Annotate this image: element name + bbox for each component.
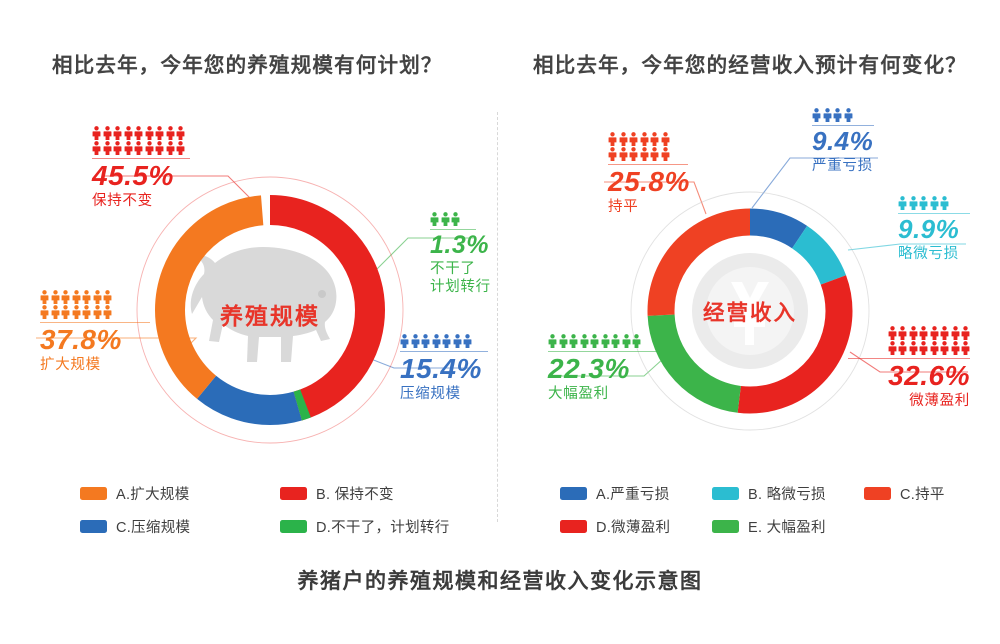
person-icon bbox=[580, 334, 589, 348]
legend-swatch bbox=[80, 520, 107, 533]
legend-item[interactable]: B. 略微亏损 bbox=[712, 483, 864, 504]
footer-title: 养猪户的养殖规模和经营收入变化示意图 bbox=[0, 565, 1000, 595]
callout-keep-scale: 45.5% 保持不变 bbox=[92, 126, 190, 210]
person-icon bbox=[823, 108, 832, 122]
person-icon bbox=[124, 141, 133, 155]
person-icon bbox=[961, 341, 970, 355]
callout-percent: 32.6% bbox=[848, 361, 970, 391]
legend-swatch bbox=[80, 487, 107, 500]
callout-label: 保持不变 bbox=[92, 192, 190, 210]
person-icon bbox=[61, 305, 70, 319]
person-icon bbox=[92, 126, 101, 140]
legend-label: D.微薄盈利 bbox=[596, 516, 670, 537]
person-icon bbox=[40, 305, 49, 319]
person-icon bbox=[629, 132, 638, 146]
callout-percent: 9.9% bbox=[898, 216, 970, 244]
callout-big-profit-income: 22.3% 大幅盈利 bbox=[548, 334, 666, 403]
people-icons-shrink bbox=[400, 334, 488, 348]
person-icon bbox=[650, 132, 659, 146]
person-icon bbox=[833, 108, 842, 122]
callout-label: 压缩规模 bbox=[400, 385, 488, 403]
legend-label: A.扩大规模 bbox=[116, 483, 190, 504]
person-icon bbox=[400, 334, 409, 348]
person-icon bbox=[103, 126, 112, 140]
person-icon bbox=[590, 334, 599, 348]
callout-flat-income: 25.8% 持平 bbox=[608, 132, 690, 216]
people-icons-big-profit bbox=[548, 334, 666, 348]
callout-percent: 25.8% bbox=[608, 167, 690, 197]
person-icon bbox=[812, 108, 821, 122]
person-icon bbox=[451, 212, 460, 226]
legend-item[interactable]: A.扩大规模 bbox=[80, 483, 280, 504]
donut-chart-scale: 养殖规模 bbox=[130, 170, 410, 450]
legend-swatch bbox=[712, 487, 739, 500]
person-icon bbox=[463, 334, 472, 348]
person-icon bbox=[442, 334, 451, 348]
person-icon bbox=[951, 326, 960, 340]
callout-severe-loss-income: 9.4% 严重亏损 bbox=[812, 108, 874, 175]
person-icon bbox=[559, 334, 568, 348]
legend-income: A.严重亏损B. 略微亏损C.持平D.微薄盈利E. 大幅盈利 bbox=[560, 483, 994, 537]
person-icon bbox=[176, 141, 185, 155]
person-icon bbox=[940, 196, 949, 210]
person-icon bbox=[103, 141, 112, 155]
person-icon bbox=[601, 334, 610, 348]
person-icon bbox=[176, 126, 185, 140]
callout-percent: 45.5% bbox=[92, 161, 190, 191]
person-icon bbox=[619, 132, 628, 146]
person-icon bbox=[650, 147, 659, 161]
legend-label: C.压缩规模 bbox=[116, 516, 190, 537]
person-icon bbox=[93, 290, 102, 304]
person-icon bbox=[134, 126, 143, 140]
person-icon bbox=[661, 147, 670, 161]
person-icon bbox=[145, 126, 154, 140]
person-icon bbox=[453, 334, 462, 348]
person-icon bbox=[898, 341, 907, 355]
person-icon bbox=[155, 126, 164, 140]
people-icons-severe-loss bbox=[812, 108, 874, 122]
person-icon bbox=[919, 326, 928, 340]
person-icon bbox=[61, 290, 70, 304]
legend-item[interactable]: C.压缩规模 bbox=[80, 516, 280, 537]
person-icon bbox=[888, 341, 897, 355]
people-icons-keep bbox=[92, 126, 190, 155]
callout-slight-loss-income: 9.9% 略微亏损 bbox=[898, 196, 970, 263]
person-icon bbox=[51, 290, 60, 304]
person-icon bbox=[919, 341, 928, 355]
person-icon bbox=[421, 334, 430, 348]
person-icon bbox=[608, 132, 617, 146]
panel-title-income: 相比去年，今年您的经营收入预计有何变化？ bbox=[533, 48, 967, 78]
callout-label: 微薄盈利 bbox=[848, 392, 970, 410]
person-icon bbox=[898, 326, 907, 340]
person-icon bbox=[569, 334, 578, 348]
person-icon bbox=[640, 147, 649, 161]
person-icon bbox=[940, 326, 949, 340]
people-icons-thin-profit bbox=[848, 326, 970, 355]
person-icon bbox=[632, 334, 641, 348]
legend-swatch bbox=[712, 520, 739, 533]
legend-swatch bbox=[560, 487, 587, 500]
legend-scale: A.扩大规模B. 保持不变C.压缩规模D.不干了，计划转行 bbox=[80, 483, 510, 537]
person-icon bbox=[103, 305, 112, 319]
people-icons-slight-loss bbox=[898, 196, 970, 210]
callout-label: 持平 bbox=[608, 198, 690, 216]
person-icon bbox=[113, 126, 122, 140]
legend-label: B. 保持不变 bbox=[316, 483, 394, 504]
person-icon bbox=[113, 141, 122, 155]
legend-swatch bbox=[560, 520, 587, 533]
person-icon bbox=[441, 212, 450, 226]
legend-label: B. 略微亏损 bbox=[748, 483, 826, 504]
person-icon bbox=[629, 147, 638, 161]
person-icon bbox=[888, 326, 897, 340]
person-icon bbox=[430, 212, 439, 226]
callout-percent: 1.3% bbox=[430, 232, 491, 259]
callout-percent: 37.8% bbox=[40, 325, 150, 355]
callout-label: 大幅盈利 bbox=[548, 385, 666, 403]
person-icon bbox=[72, 305, 81, 319]
person-icon bbox=[909, 341, 918, 355]
person-icon bbox=[432, 334, 441, 348]
person-icon bbox=[82, 290, 91, 304]
callout-quit-scale: 1.3% 不干了 计划转行 bbox=[430, 212, 491, 296]
callout-percent: 22.3% bbox=[548, 354, 666, 384]
person-icon bbox=[961, 326, 970, 340]
person-icon bbox=[166, 126, 175, 140]
legend-swatch bbox=[280, 487, 307, 500]
person-icon bbox=[124, 126, 133, 140]
person-icon bbox=[619, 147, 628, 161]
person-icon bbox=[898, 196, 907, 210]
person-icon bbox=[40, 290, 49, 304]
infographic-canvas: 相比去年，今年您的养殖规模有何计划？ 相比去年，今年您的经营收入预计有何变化？ bbox=[0, 0, 1000, 644]
legend-label: D.不干了，计划转行 bbox=[316, 516, 450, 537]
callout-percent: 15.4% bbox=[400, 354, 488, 384]
person-icon bbox=[930, 326, 939, 340]
legend-label: A.严重亏损 bbox=[596, 483, 670, 504]
legend-label: E. 大幅盈利 bbox=[748, 516, 826, 537]
callout-shrink-scale: 15.4% 压缩规模 bbox=[400, 334, 488, 403]
legend-item[interactable]: B. 保持不变 bbox=[280, 483, 510, 504]
person-icon bbox=[640, 132, 649, 146]
callout-expand-scale: 37.8% 扩大规模 bbox=[40, 290, 150, 374]
panel-title-scale: 相比去年，今年您的养殖规模有何计划？ bbox=[52, 48, 443, 78]
person-icon bbox=[92, 141, 101, 155]
person-icon bbox=[844, 108, 853, 122]
person-icon bbox=[919, 196, 928, 210]
callout-thin-profit-income: 32.6% 微薄盈利 bbox=[848, 326, 970, 410]
panel-divider bbox=[497, 112, 498, 522]
person-icon bbox=[155, 141, 164, 155]
person-icon bbox=[72, 290, 81, 304]
donut-svg-scale bbox=[130, 170, 410, 450]
person-icon bbox=[930, 341, 939, 355]
person-icon bbox=[930, 196, 939, 210]
callout-percent: 9.4% bbox=[812, 128, 874, 156]
person-icon bbox=[82, 305, 91, 319]
person-icon bbox=[951, 341, 960, 355]
person-icon bbox=[909, 326, 918, 340]
person-icon bbox=[622, 334, 631, 348]
legend-swatch bbox=[864, 487, 891, 500]
legend-item[interactable]: D.微薄盈利 bbox=[560, 516, 712, 537]
callout-label: 略微亏损 bbox=[898, 245, 970, 263]
person-icon bbox=[940, 341, 949, 355]
pig-silhouette-icon bbox=[191, 247, 337, 362]
legend-item[interactable]: E. 大幅盈利 bbox=[712, 516, 864, 537]
legend-item[interactable]: C.持平 bbox=[864, 483, 994, 504]
person-icon bbox=[93, 305, 102, 319]
callout-label: 不干了 计划转行 bbox=[430, 260, 491, 296]
people-icons-expand bbox=[40, 290, 150, 319]
legend-item[interactable]: A.严重亏损 bbox=[560, 483, 712, 504]
legend-label: C.持平 bbox=[900, 483, 945, 504]
person-icon bbox=[103, 290, 112, 304]
callout-label: 严重亏损 bbox=[812, 157, 874, 175]
person-icon bbox=[661, 132, 670, 146]
legend-swatch bbox=[280, 520, 307, 533]
people-icons-quit bbox=[430, 212, 491, 226]
legend-item[interactable]: D.不干了，计划转行 bbox=[280, 516, 510, 537]
person-icon bbox=[611, 334, 620, 348]
person-icon bbox=[166, 141, 175, 155]
person-icon bbox=[134, 141, 143, 155]
people-icons-flat bbox=[608, 132, 690, 161]
person-icon bbox=[145, 141, 154, 155]
person-icon bbox=[411, 334, 420, 348]
person-icon bbox=[608, 147, 617, 161]
callout-label: 扩大规模 bbox=[40, 356, 150, 374]
person-icon bbox=[548, 334, 557, 348]
person-icon bbox=[51, 305, 60, 319]
person-icon bbox=[909, 196, 918, 210]
